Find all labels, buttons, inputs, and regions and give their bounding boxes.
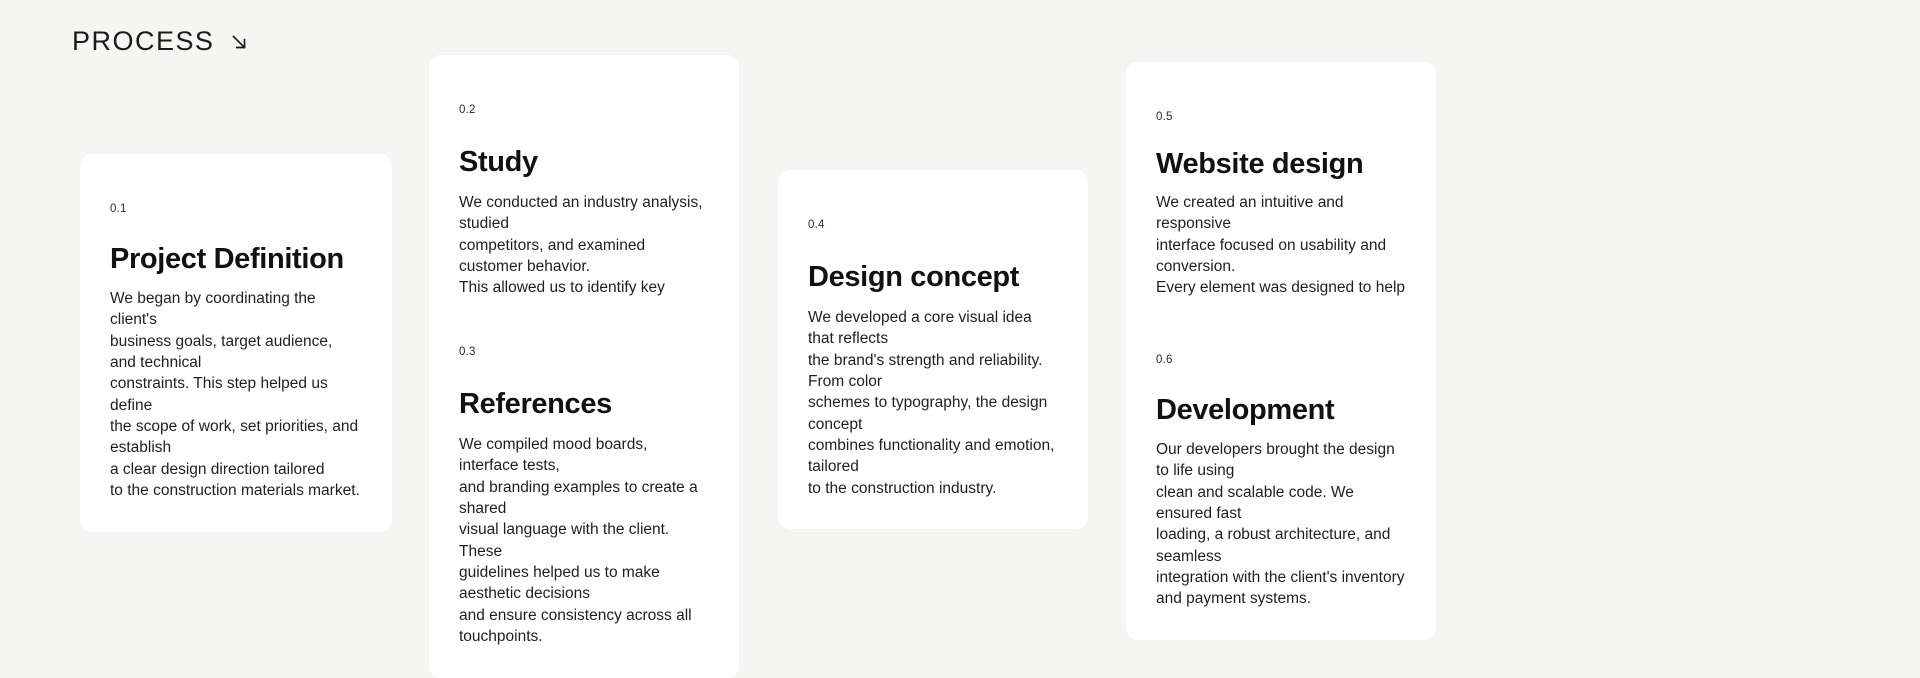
page-title: PROCESS [72,28,214,55]
card-number: 0.3 [459,347,709,359]
process-section: PROCESS 0.1 Project Definition We began … [0,0,1920,670]
card-description: Our developers brought the design to lif… [1156,439,1406,610]
card-number: 0.5 [1156,112,1406,124]
process-card-6: 0.6 Development Our developers brought t… [1126,305,1436,640]
card-description: We developed a core visual idea that ref… [808,307,1058,499]
arrow-down-right-icon [228,31,250,53]
card-number: 0.1 [110,204,362,216]
card-description: We began by coordinating the client's bu… [110,288,362,502]
process-card-4: 0.4 Design concept We developed a core v… [778,170,1088,529]
card-title: Study [459,147,709,178]
card-title: References [459,389,709,420]
card-description: We compiled mood boards, interface tests… [459,434,709,648]
card-title: Development [1156,395,1406,426]
section-header: PROCESS [72,28,250,55]
process-card-1: 0.1 Project Definition We began by coord… [80,154,392,532]
card-number: 0.6 [1156,355,1406,367]
card-number: 0.4 [808,220,1058,232]
card-number: 0.2 [459,105,709,117]
card-title: Design concept [808,262,1058,293]
card-title: Project Definition [110,244,362,275]
process-card-3: 0.3 References We compiled mood boards, … [429,296,739,678]
card-title: Website design [1156,149,1406,180]
